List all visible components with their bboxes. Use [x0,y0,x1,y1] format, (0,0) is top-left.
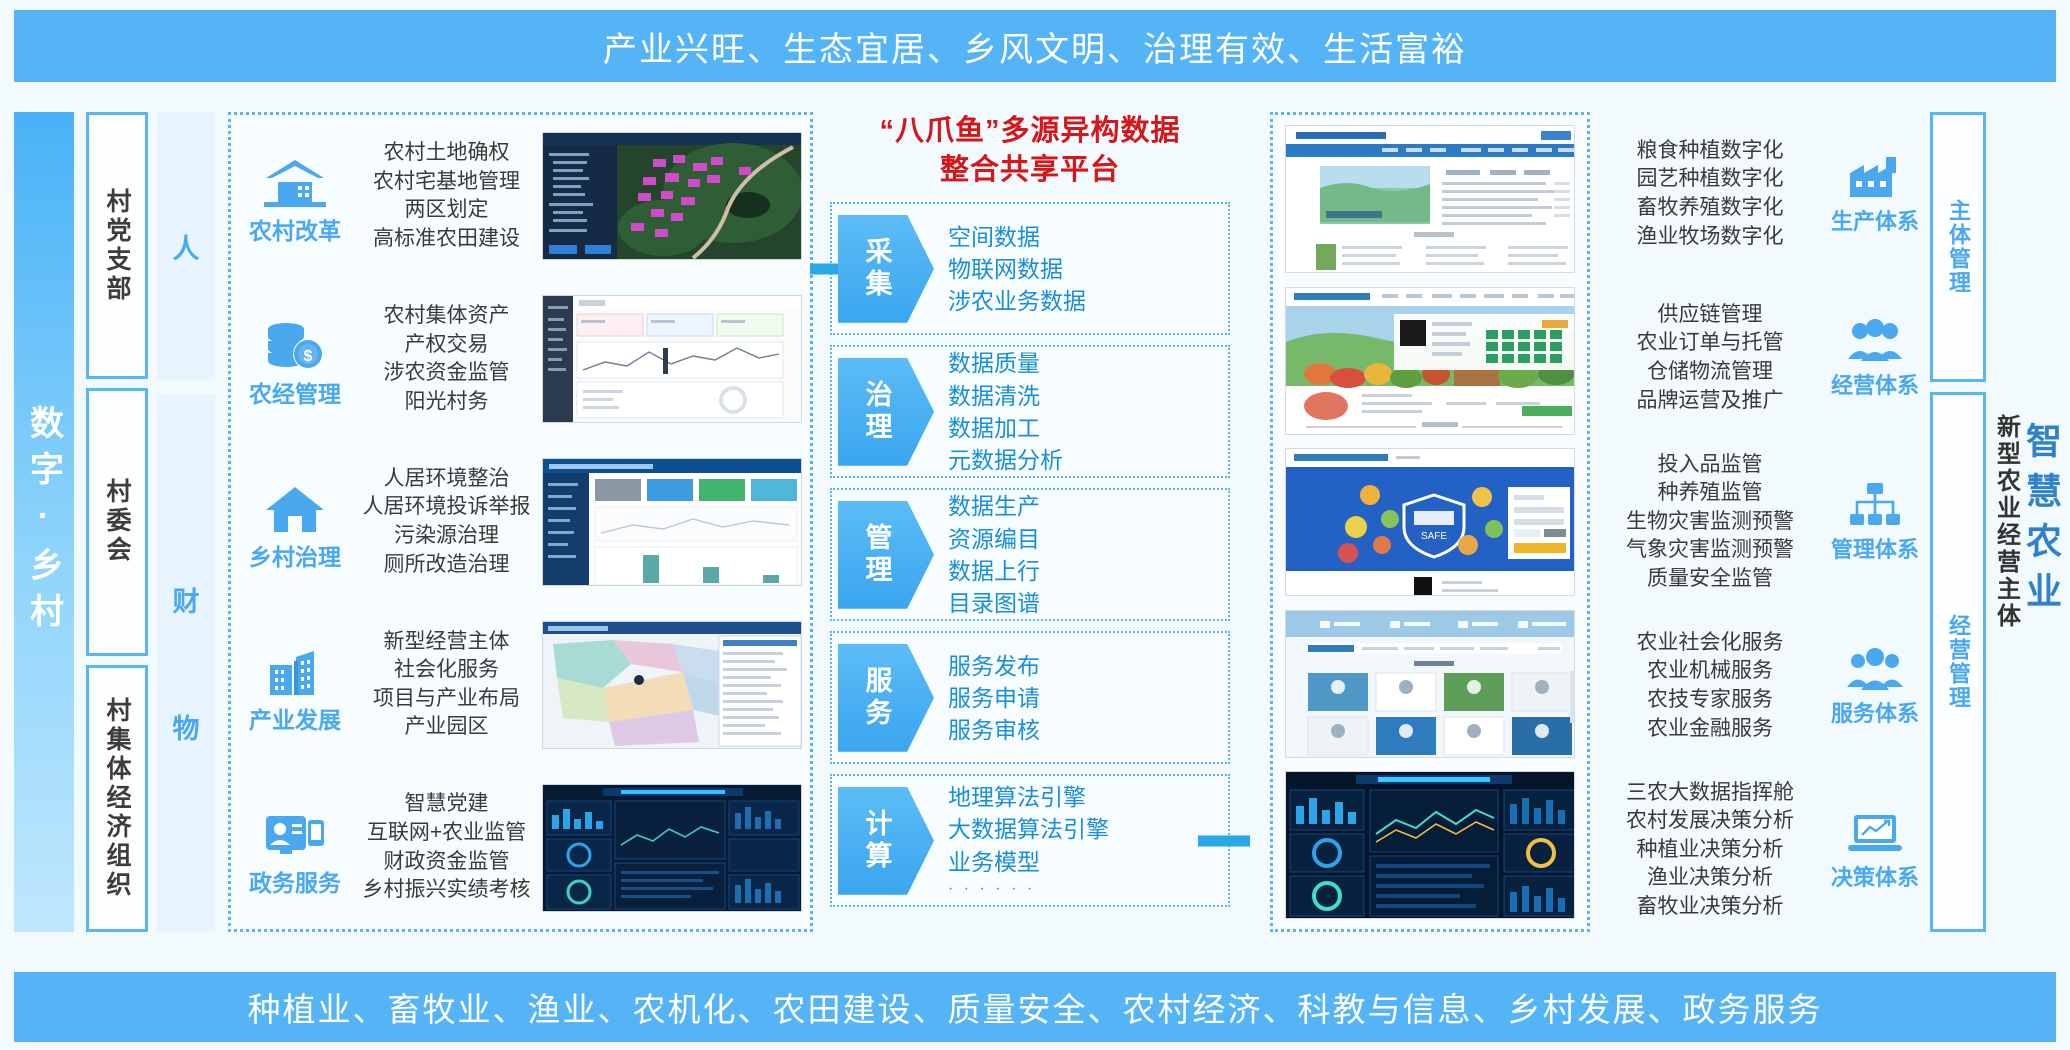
stage-item: 服务审核 [948,714,1228,746]
screenshot-dark-decision-dashboard [1285,771,1575,919]
far-box-label: 经营管理 [1942,614,1974,710]
org-box-collective-economy[interactable]: 村集体经济组织 [86,665,148,932]
detail-line: 气象灾害监测预警 [1600,536,1820,565]
detail-line: 园艺种植数字化 [1600,165,1820,194]
detail-line: 仓储物流管理 [1600,358,1820,387]
stage-item: 业务模型 [948,846,1228,878]
right-row-service-system[interactable]: 农业社会化服务 农业机械服务 农技专家服务 农业金融服务 服务体系 [1600,604,1930,768]
stage-items: 地理算法引擎 大数据算法引擎 业务模型 · · · · · · [934,781,1228,900]
detail-line: 人居环境整治 [357,465,536,494]
left-row-details: 智慧党建 互联网+农业监管 财政资金监管 乡村振兴实绩考核 [351,790,542,904]
org-box-village-committee[interactable]: 村委会 [86,388,148,655]
bottom-banner-text: 种植业、畜牧业、渔业、农机化、农田建设、质量安全、农村经济、科教与信息、乡村发展… [248,983,1823,1031]
detail-line: 质量安全监管 [1600,565,1820,594]
detail-line: 渔业决策分析 [1600,864,1820,893]
detail-line: 社会化服务 [357,656,536,685]
detail-line: 高标准农田建设 [357,225,536,254]
top-banner: 产业兴旺、生态宜居、乡风文明、治理有效、生活富裕 [14,10,2056,82]
detail-line: 粮食种植数字化 [1600,137,1820,166]
detail-line: 财政资金监管 [357,848,536,877]
detail-line: 产业园区 [357,713,536,742]
left-row-caption: 产业发展 [249,701,341,735]
brand-column: 数字·乡村 [14,112,74,932]
detail-line: 农业社会化服务 [1600,629,1820,658]
right-row-operation-system[interactable]: 供应链管理 农业订单与托管 仓储物流管理 品牌运营及推广 经营体系 [1600,276,1930,440]
left-row-icon-block: $ 农经管理 [239,309,351,409]
left-row-rural-reform[interactable]: 农村改革 农村土地确权 农村宅基地管理 两区划定 高标准农田建设 [231,115,810,278]
detail-line: 种植业决策分析 [1600,836,1820,865]
right-row-decision-system[interactable]: 三农大数据指挥舱 农村发展决策分析 种植业决策分析 渔业决策分析 畜牧业决策分析… [1600,768,1930,932]
detail-line: 品牌运营及推广 [1600,387,1820,416]
left-row-icon-block: 农村改革 [239,146,351,246]
right-row-icon-block: 管理体系 [1820,481,1930,564]
left-row-caption: 政务服务 [249,864,341,898]
stage-item: · · · · · · [948,878,1228,900]
detail-line: 供应链管理 [1600,301,1820,330]
detail-line: 污染源治理 [357,522,536,551]
left-feature-panel: 农村改革 农村土地确权 农村宅基地管理 两区划定 高标准农田建设 [228,112,813,932]
right-row-details: 投入品监管 种养殖监管 生物灾害监测预警 气象灾害监测预警 质量安全监管 [1600,451,1820,594]
right-row-icon-block: 决策体系 [1820,809,1930,892]
right-row-icon-block: 生产体系 [1820,153,1930,236]
resource-label-people: 人 [173,227,200,266]
stage-arrow: 计算 [838,787,934,895]
detail-line: 产权交易 [357,331,536,360]
stage-items: 空间数据 物联网数据 涉农业务数据 [934,221,1228,318]
stage-management[interactable]: 管理 数据生产 资源编目 数据上行 目录图谱 [830,488,1230,621]
house-roof-icon [264,146,326,208]
detail-line: 两区划定 [357,196,536,225]
detail-line: 农业金融服务 [1600,715,1820,744]
left-row-icon-block: 乡村治理 [239,472,351,572]
detail-line: 厕所改造治理 [357,551,536,580]
right-feature-column: 粮食种植数字化 园艺种植数字化 畜牧养殖数字化 渔业牧场数字化 生产体系 供应链… [1600,112,1930,932]
stage-arrow: 治理 [838,358,934,466]
stage-arrow: 管理 [838,501,934,609]
right-row-caption: 生产体系 [1831,204,1919,236]
stage-item: 数据质量 [948,347,1228,379]
screenshot-industry-gis-map [542,621,802,749]
platform-title: “八爪鱼”多源异构数据 整合共享平台 [830,112,1230,190]
stage-item: 地理算法引擎 [948,781,1228,813]
detail-line: 渔业牧场数字化 [1600,223,1820,252]
stage-items: 数据生产 资源编目 数据上行 目录图谱 [934,490,1228,619]
stage-item: 大数据算法引擎 [948,813,1228,845]
right-row-production-system[interactable]: 粮食种植数字化 园艺种植数字化 畜牧养殖数字化 渔业牧场数字化 生产体系 [1600,112,1930,276]
people-group-icon [1846,317,1904,365]
stage-name: 管理 [858,523,915,587]
org-label: 村委会 [99,478,135,565]
stage-item: 目录图谱 [948,587,1228,619]
stage-arrow: 采集 [838,215,934,323]
left-row-icon-block: 政务服务 [239,798,351,898]
right-row-caption: 经营体系 [1831,368,1919,400]
stage-name: 采集 [858,237,915,301]
detail-line: 项目与产业布局 [357,685,536,714]
left-row-details: 农村集体资产 产权交易 涉农资金监管 阳光村务 [351,302,542,416]
screenshot-food-safety-login: SAFE [1285,448,1575,596]
detail-line: 互联网+农业监管 [357,819,536,848]
stage-items: 数据质量 数据清洗 数据加工 元数据分析 [934,347,1228,476]
top-banner-text: 产业兴旺、生态宜居、乡风文明、治理有效、生活富裕 [603,22,1467,71]
smart-agriculture-column: 智慧农业 [2018,112,2064,932]
right-row-details: 三农大数据指挥舱 农村发展决策分析 种植业决策分析 渔业决策分析 畜牧业决策分析 [1600,779,1820,922]
right-row-caption: 决策体系 [1831,860,1919,892]
left-row-caption: 乡村治理 [249,538,341,572]
home-icon [264,472,326,534]
detail-line: 畜牧业决策分析 [1600,893,1820,922]
diagram-canvas: 产业兴旺、生态宜居、乡风文明、治理有效、生活富裕 数字·乡村 村党支部 村委会 … [0,0,2070,1050]
detail-line: 农技专家服务 [1600,686,1820,715]
stage-service[interactable]: 服务 服务发布 服务申请 服务审核 [830,631,1230,764]
screenshot-service-platform-grid [1285,610,1575,758]
detail-line: 农村发展决策分析 [1600,807,1820,836]
stage-items: 服务发布 服务申请 服务审核 [934,650,1228,747]
bottom-banner: 种植业、畜牧业、渔业、农机化、农田建设、质量安全、农村经济、科教与信息、乡村发展… [14,972,2056,1042]
stage-computing[interactable]: 计算 地理算法引擎 大数据算法引擎 业务模型 · · · · · · [830,774,1230,907]
detail-line: 种养殖监管 [1600,479,1820,508]
svg-text:SAFE: SAFE [1421,531,1447,542]
center-platform-column: “八爪鱼”多源异构数据 整合共享平台 采集 空间数据 物联网数据 涉农业务数据 … [830,112,1230,932]
left-row-government-service[interactable]: 政务服务 智慧党建 互联网+农业监管 财政资金监管 乡村振兴实绩考核 [231,766,810,929]
left-row-industry-development[interactable]: 产业发展 新型经营主体 社会化服务 项目与产业布局 产业园区 [231,603,810,766]
left-row-details: 新型经营主体 社会化服务 项目与产业布局 产业园区 [351,628,542,742]
right-screenshot-panel: SAFE [1270,112,1590,932]
person-screen-icon [264,798,326,860]
detail-line: 智慧党建 [357,790,536,819]
detail-line: 涉农资金监管 [357,359,536,388]
stage-collection[interactable]: 采集 空间数据 物联网数据 涉农业务数据 [830,202,1230,335]
stage-item: 数据清洗 [948,380,1228,412]
three-people-icon [1846,645,1904,693]
left-row-icon-block: 产业发展 [239,635,351,735]
stage-connector-right [1198,835,1250,846]
far-box-subject-management[interactable]: 主体管理 [1930,112,1986,382]
resource-people: 人 [157,112,215,380]
right-row-icon-block: 经营体系 [1820,317,1930,400]
screenshot-satellite-parcel-map [542,132,802,260]
stage-item: 服务发布 [948,650,1228,682]
platform-title-line1: “八爪鱼”多源异构数据 [830,112,1230,151]
right-row-caption: 服务体系 [1831,696,1919,728]
left-row-caption: 农经管理 [249,375,341,409]
left-row-rural-finance[interactable]: $ 农经管理 农村集体资产 产权交易 涉农资金监管 阳光村务 [231,278,810,441]
screenshot-produce-traceability-site [1285,287,1575,435]
stage-item: 服务申请 [948,682,1228,714]
detail-line: 农村集体资产 [357,302,536,331]
stage-name: 计算 [858,809,915,873]
screenshot-agri-info-portal [1285,125,1575,273]
brand-label: 数字·乡村 [20,405,69,639]
stage-name: 治理 [858,380,915,444]
org-label: 村集体经济组织 [99,697,135,900]
detail-line: 农业订单与托管 [1600,329,1820,358]
detail-line: 农业机械服务 [1600,657,1820,686]
detail-line: 乡村振兴实绩考核 [357,876,536,905]
detail-line: 阳光村务 [357,388,536,417]
org-chart-icon [1846,481,1904,529]
detail-line: 三农大数据指挥舱 [1600,779,1820,808]
resource-money-goods: 财 物 [157,394,215,932]
platform-title-line2: 整合共享平台 [830,151,1230,190]
svg-text:$: $ [304,348,313,365]
screenshot-governance-dashboard [542,458,802,586]
stage-item: 空间数据 [948,221,1228,253]
right-row-caption: 管理体系 [1831,532,1919,564]
stage-governance[interactable]: 治理 数据质量 数据清洗 数据加工 元数据分析 [830,345,1230,478]
stage-item: 元数据分析 [948,444,1228,476]
stage-item: 涉农业务数据 [948,285,1228,317]
detail-line: 投入品监管 [1600,451,1820,480]
org-label: 村党支部 [99,188,135,304]
far-box-label: 主体管理 [1942,199,1974,295]
detail-line: 畜牧养殖数字化 [1600,194,1820,223]
detail-line: 农村宅基地管理 [357,168,536,197]
resource-label-goods: 物 [173,707,200,746]
screenshot-dark-bi-dashboard [542,784,802,912]
left-row-details: 人居环境整治 人居环境投诉举报 污染源治理 厕所改造治理 [351,465,542,579]
detail-line: 生物灾害监测预警 [1600,508,1820,537]
detail-line: 人居环境投诉举报 [357,493,536,522]
left-row-caption: 农村改革 [249,212,341,246]
detail-line: 农村土地确权 [357,139,536,168]
smart-agriculture-label: 智慧农业 [2015,422,2067,622]
left-row-rural-governance[interactable]: 乡村治理 人居环境整治 人居环境投诉举报 污染源治理 厕所改造治理 [231,441,810,604]
stage-item: 物联网数据 [948,253,1228,285]
detail-line: 新型经营主体 [357,628,536,657]
org-box-party-branch[interactable]: 村党支部 [86,112,148,379]
right-row-details: 粮食种植数字化 园艺种植数字化 畜牧养殖数字化 渔业牧场数字化 [1600,137,1820,251]
right-row-details: 农业社会化服务 农业机械服务 农技专家服务 农业金融服务 [1600,629,1820,743]
stage-item: 数据上行 [948,555,1228,587]
screenshot-finance-dashboard [542,295,802,423]
stage-name: 服务 [858,666,915,730]
buildings-icon [264,635,326,697]
coins-dollar-icon: $ [264,309,326,371]
left-row-details: 农村土地确权 农村宅基地管理 两区划定 高标准农田建设 [351,139,542,253]
far-right-box-column: 主体管理 经营管理 [1930,112,1986,932]
factory-icon [1846,153,1904,201]
stage-list: 采集 空间数据 物联网数据 涉农业务数据 治理 数据质量 数据清洗 数据加工 元… [830,202,1230,907]
right-row-details: 供应链管理 农业订单与托管 仓储物流管理 品牌运营及推广 [1600,301,1820,415]
far-box-operation-management[interactable]: 经营管理 [1930,392,1986,932]
right-row-management-system[interactable]: 投入品监管 种养殖监管 生物灾害监测预警 气象灾害监测预警 质量安全监管 管理体… [1600,440,1930,604]
laptop-chart-icon [1846,809,1904,857]
resource-column: 人 财 物 [157,112,215,932]
right-row-icon-block: 服务体系 [1820,645,1930,728]
stage-arrow: 服务 [838,644,934,752]
org-column: 村党支部 村委会 村集体经济组织 [86,112,148,932]
stage-item: 资源编目 [948,523,1228,555]
resource-label-money: 财 [173,580,200,619]
stage-item: 数据加工 [948,412,1228,444]
stage-item: 数据生产 [948,490,1228,522]
